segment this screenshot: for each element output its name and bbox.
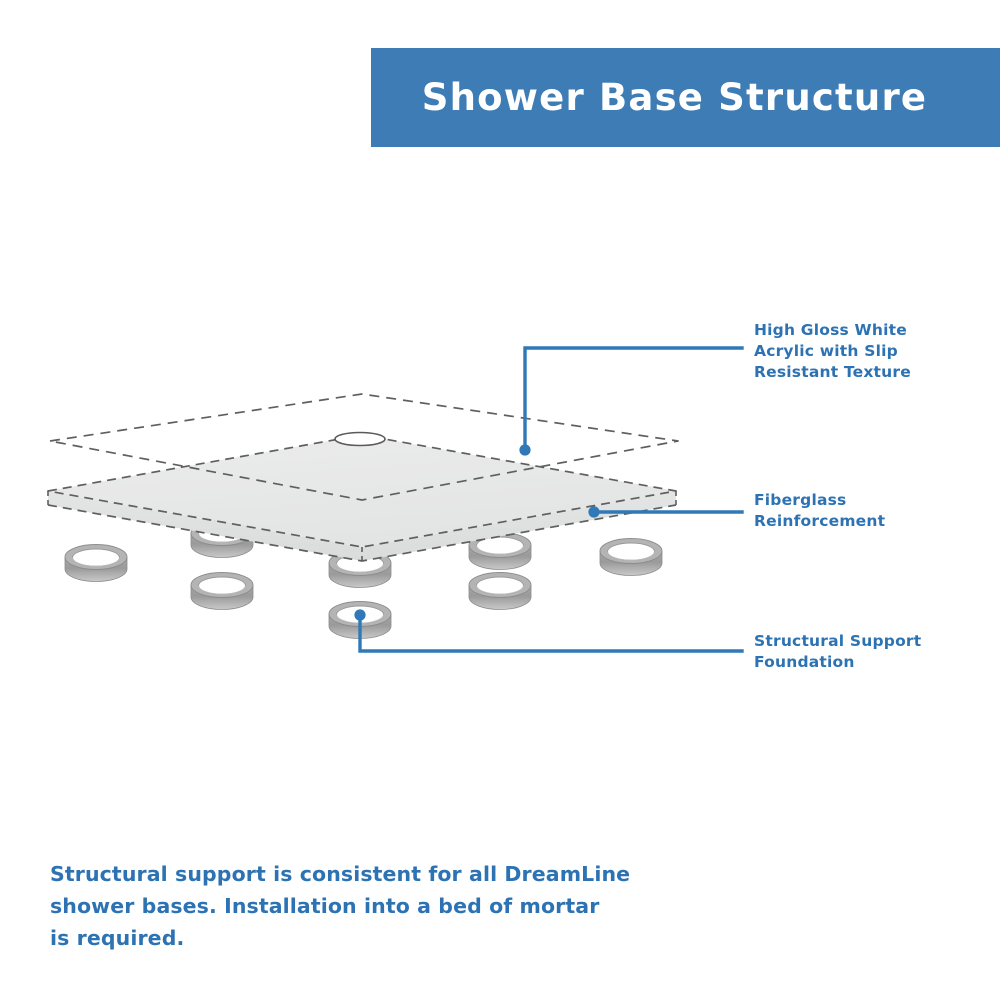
title-banner: Shower Base Structure	[371, 48, 1000, 147]
support-ring	[469, 573, 531, 610]
page-root: Shower Base Structure	[0, 0, 1000, 1000]
drain-hole	[335, 433, 385, 446]
support-ring	[469, 533, 531, 570]
support-ring	[600, 539, 662, 576]
leader-dot-support	[354, 609, 365, 620]
support-ring	[65, 545, 127, 582]
support-ring	[329, 602, 391, 639]
support-ring	[329, 551, 391, 588]
support-ring	[191, 573, 253, 610]
callout-label-support: Structural Support Foundation	[754, 631, 994, 673]
leader-line-support	[360, 615, 742, 651]
callout-label-fiberglass: Fiberglass Reinforcement	[754, 490, 994, 532]
support-ring-group	[65, 521, 662, 639]
leader-line-acrylic	[525, 348, 742, 450]
leader-lines	[354, 348, 742, 651]
callout-label-acrylic: High Gloss White Acrylic with Slip Resis…	[754, 320, 994, 384]
acrylic-layer	[50, 394, 678, 500]
leader-dot-fiberglass	[588, 506, 599, 517]
fiberglass-slab	[48, 435, 676, 561]
leader-dot-acrylic	[519, 444, 530, 455]
support-ring	[191, 521, 253, 558]
footer-note: Structural support is consistent for all…	[50, 858, 690, 955]
page-title: Shower Base Structure	[422, 76, 927, 119]
